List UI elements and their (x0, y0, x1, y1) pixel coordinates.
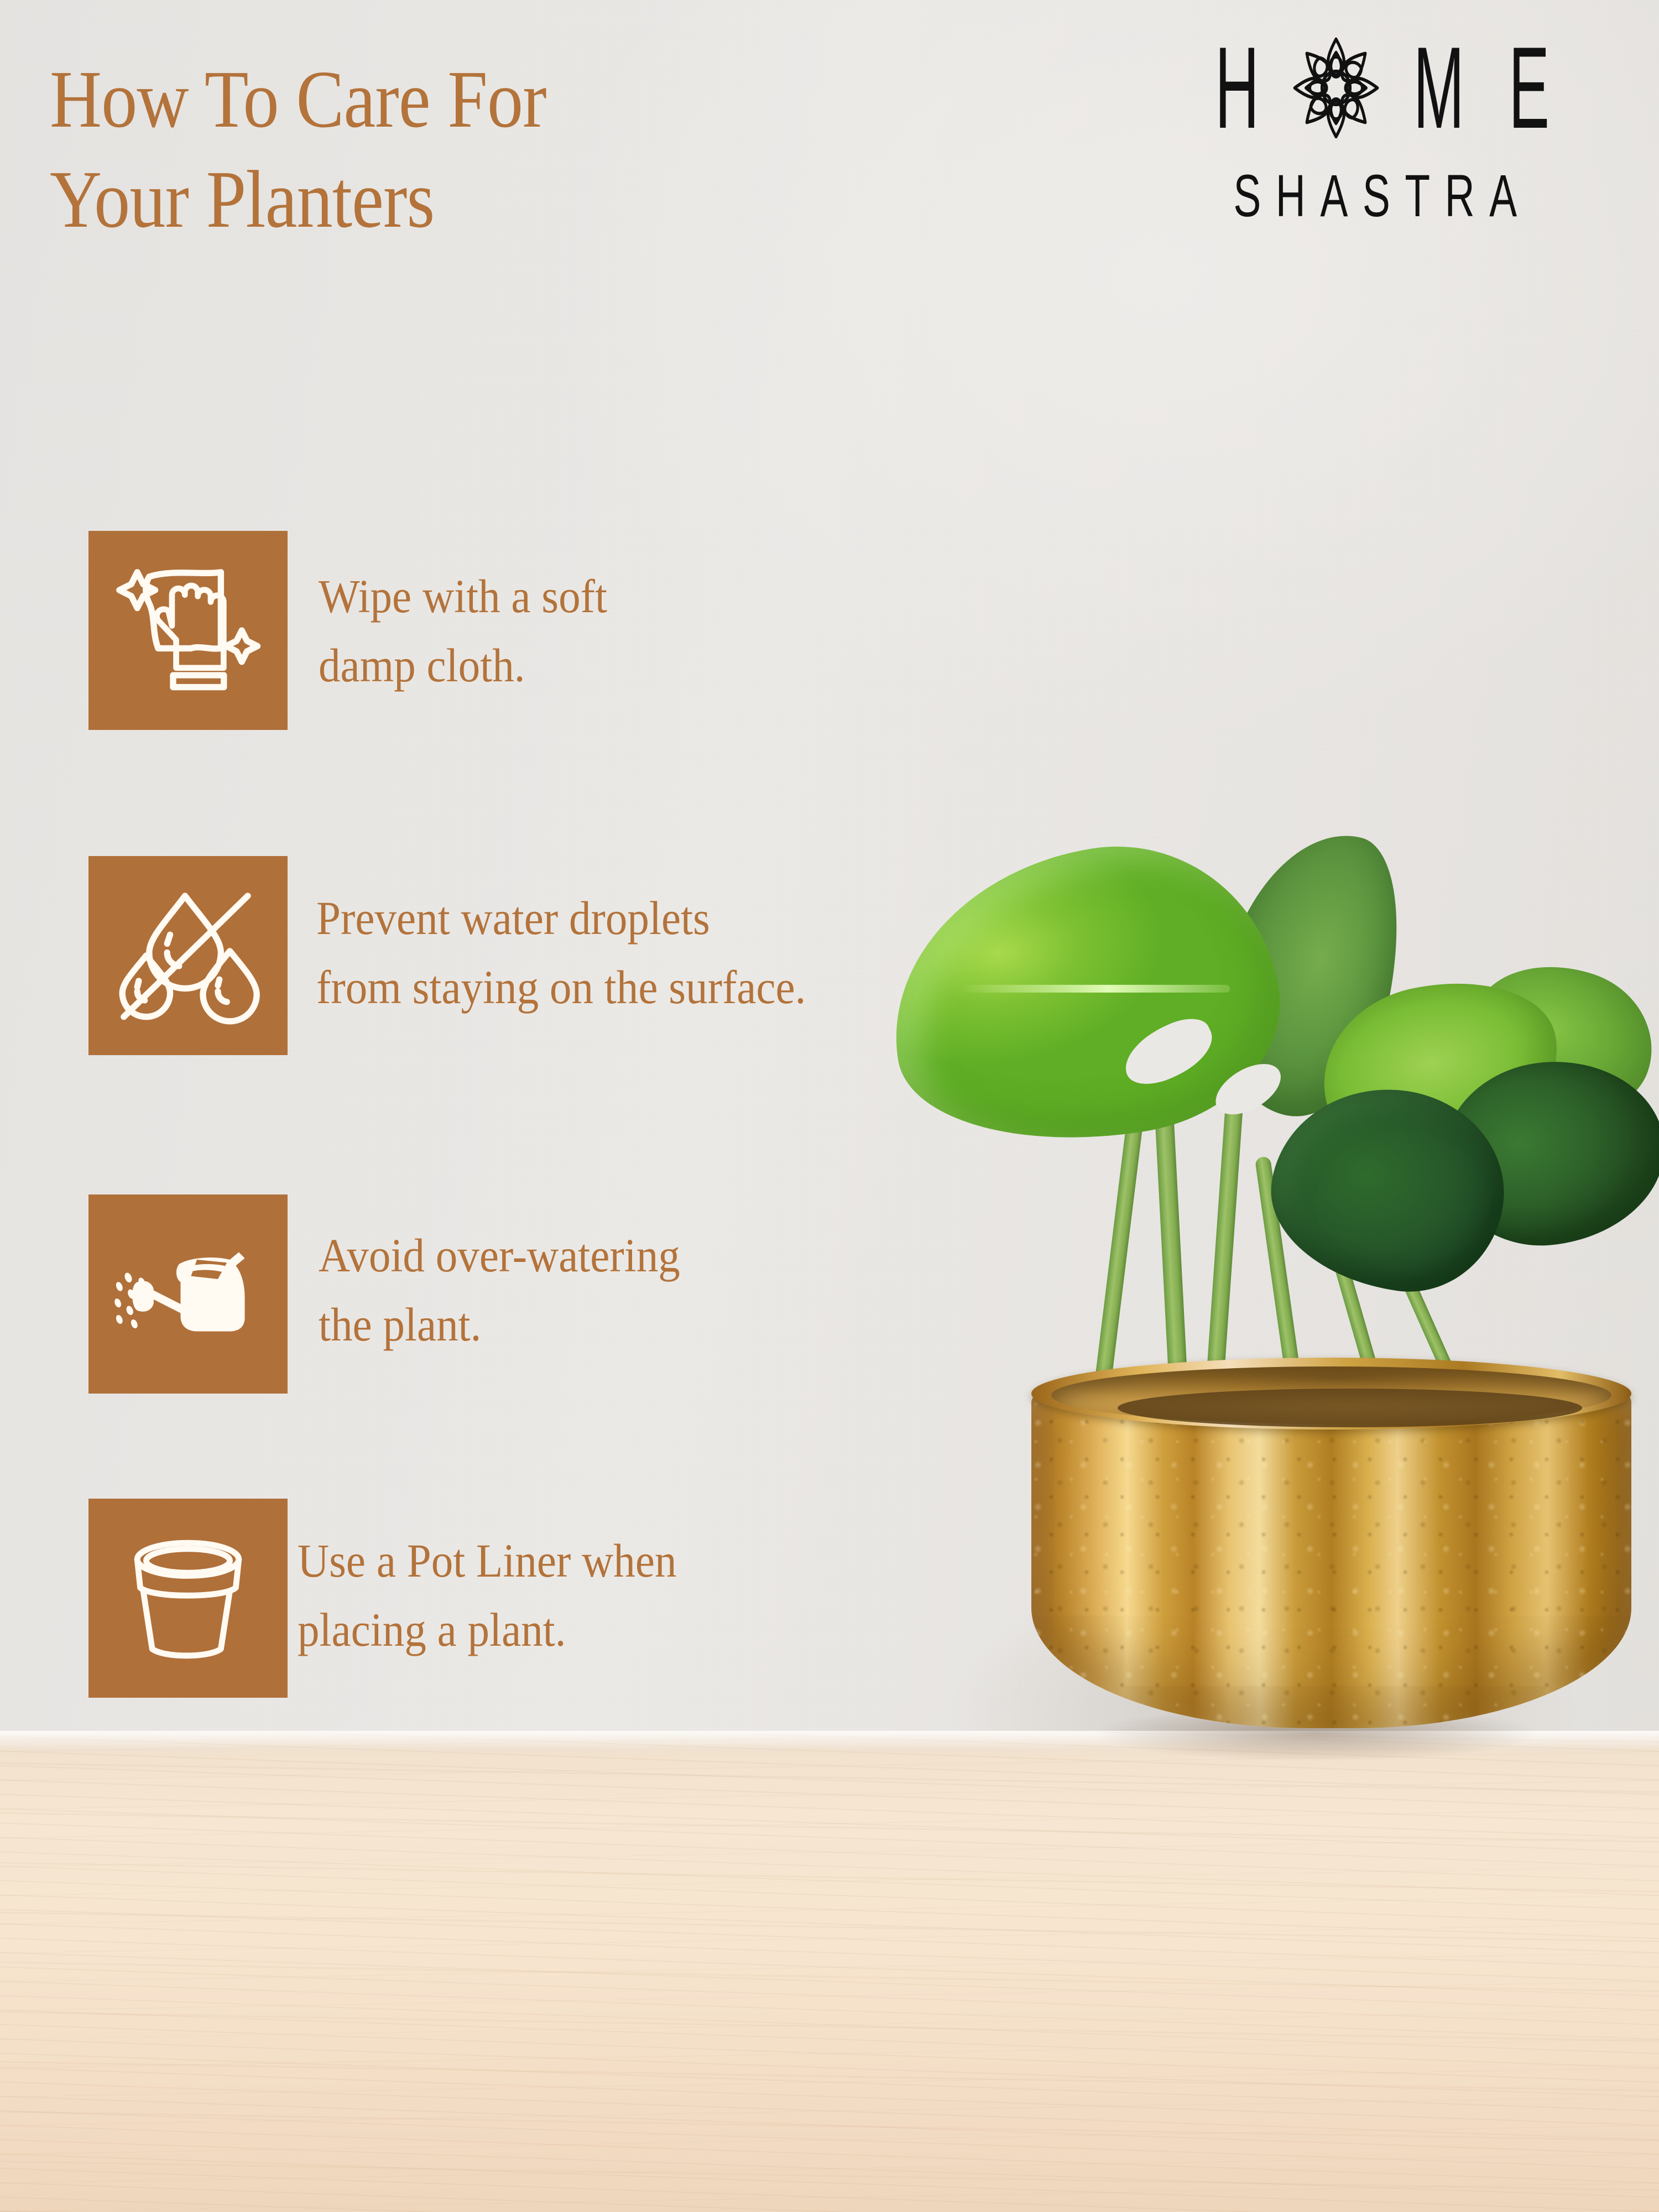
tip-text-line-1: Wipe with a soft (319, 562, 607, 631)
tip-text-line-2: the plant. (319, 1290, 680, 1359)
hand-wiping-cloth-icon (113, 556, 263, 705)
tip-icon-tile (88, 531, 288, 730)
flower-pot-icon (113, 1524, 263, 1673)
tip-text-line-1: Use a Pot Liner when (298, 1526, 677, 1595)
care-tip-item: Use a Pot Liner when placing a plant. (88, 1499, 709, 1698)
tip-text-line-2: from staying on the surface. (316, 953, 806, 1022)
care-tip-item: Prevent water droplets from staying on t… (88, 856, 848, 1055)
tip-text: Use a Pot Liner when placing a plant. (298, 1526, 677, 1664)
tip-text: Prevent water droplets from staying on t… (316, 884, 806, 1021)
tip-text-line-1: Avoid over-watering (319, 1221, 680, 1290)
care-tip-item: Avoid over-watering the plant. (88, 1194, 712, 1394)
tip-text: Wipe with a soft damp cloth. (319, 562, 607, 700)
tip-text-line-1: Prevent water droplets (316, 884, 806, 953)
tip-icon-tile (88, 856, 288, 1055)
care-tip-item: Wipe with a soft damp cloth. (88, 531, 632, 730)
tip-text-line-2: placing a plant. (298, 1595, 677, 1665)
infographic-overlay: How To Care For Your Planters H (0, 0, 1659, 2212)
care-tips-list: Wipe with a soft damp cloth. (0, 0, 1659, 2212)
watering-can-icon (113, 1219, 263, 1369)
no-water-droplets-icon (113, 881, 263, 1030)
tip-text-line-2: damp cloth. (319, 631, 607, 700)
tip-icon-tile (88, 1194, 288, 1394)
tip-text: Avoid over-watering the plant. (319, 1221, 680, 1359)
tip-icon-tile (88, 1499, 288, 1698)
